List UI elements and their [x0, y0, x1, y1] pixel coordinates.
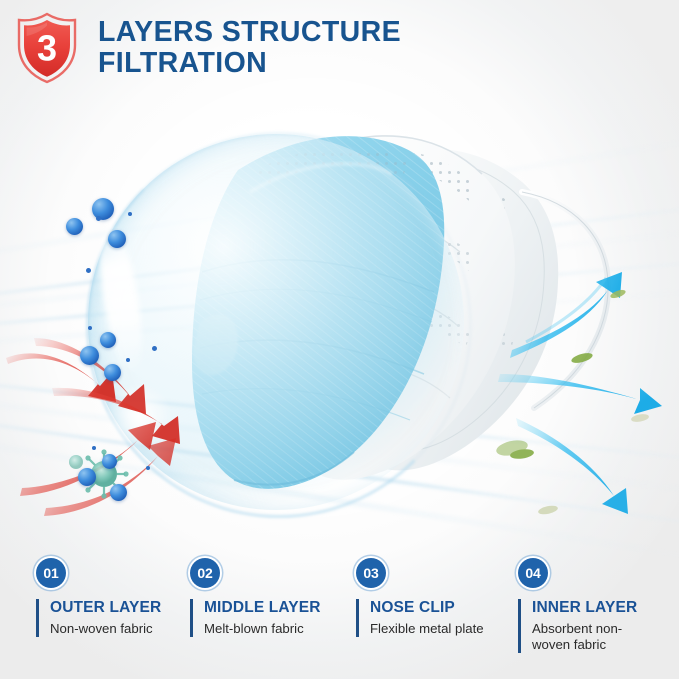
- shield-number: 3: [37, 28, 57, 69]
- blue-droplet-icon: [80, 346, 99, 365]
- blue-droplet-icon: [126, 358, 130, 362]
- blue-droplet-icon: [100, 332, 116, 348]
- blue-droplet-icon: [108, 230, 126, 248]
- legend-title-04: INNER LAYER: [532, 599, 658, 617]
- blue-droplet-icon: [86, 268, 91, 273]
- blue-droplet-icon: [92, 446, 96, 450]
- header: 3 LAYERS STRUCTURE FILTRATION: [0, 0, 679, 104]
- legend-desc-03: Flexible metal plate: [370, 621, 506, 637]
- legend-title-01: OUTER LAYER: [50, 599, 186, 617]
- title-line-2: FILTRATION: [98, 48, 658, 79]
- legend-item-nose-clip: 03 NOSE CLIP Flexible metal plate: [356, 558, 506, 637]
- page-title: LAYERS STRUCTURE FILTRATION: [98, 17, 658, 79]
- blue-droplet-icon: [110, 484, 127, 501]
- blue-droplet-icon: [96, 216, 101, 221]
- legend: 01 OUTER LAYER Non-woven fabric 02 MIDDL…: [0, 558, 679, 679]
- legend-badge-03: 03: [356, 558, 386, 588]
- legend-desc-04: Absorbent non-woven fabric: [532, 621, 658, 653]
- blue-droplet-icon: [88, 326, 92, 330]
- legend-badge-04: 04: [518, 558, 548, 588]
- blue-droplet-icon: [78, 468, 96, 486]
- legend-badge-02: 02: [190, 558, 220, 588]
- legend-item-outer-layer: 01 OUTER LAYER Non-woven fabric: [36, 558, 186, 637]
- blue-droplet-icon: [104, 364, 121, 381]
- legend-item-inner-layer: 04 INNER LAYER Absorbent non-woven fabri…: [518, 558, 658, 653]
- blue-droplet-icon: [152, 346, 157, 351]
- title-line-1: LAYERS STRUCTURE: [98, 17, 658, 48]
- airflow-effects: [0, 96, 679, 558]
- shield-badge-icon: 3: [14, 12, 80, 84]
- blue-droplet-icon: [102, 454, 117, 469]
- legend-badge-01: 01: [36, 558, 66, 588]
- red-arrow-icon: [6, 338, 180, 516]
- mask-layers-infographic: 3 LAYERS STRUCTURE FILTRATION: [0, 0, 679, 679]
- legend-title-03: NOSE CLIP: [370, 599, 506, 617]
- legend-desc-01: Non-woven fabric: [50, 621, 186, 637]
- blue-droplet-icon: [66, 218, 83, 235]
- blue-droplet-icon: [146, 466, 150, 470]
- legend-item-middle-layer: 02 MIDDLE LAYER Melt-blown fabric: [190, 558, 340, 637]
- illustration-stage: [0, 96, 679, 558]
- blue-droplet-icon: [128, 212, 132, 216]
- legend-desc-02: Melt-blown fabric: [204, 621, 340, 637]
- cyan-arrow-icon: [498, 272, 662, 514]
- legend-title-02: MIDDLE LAYER: [204, 599, 340, 617]
